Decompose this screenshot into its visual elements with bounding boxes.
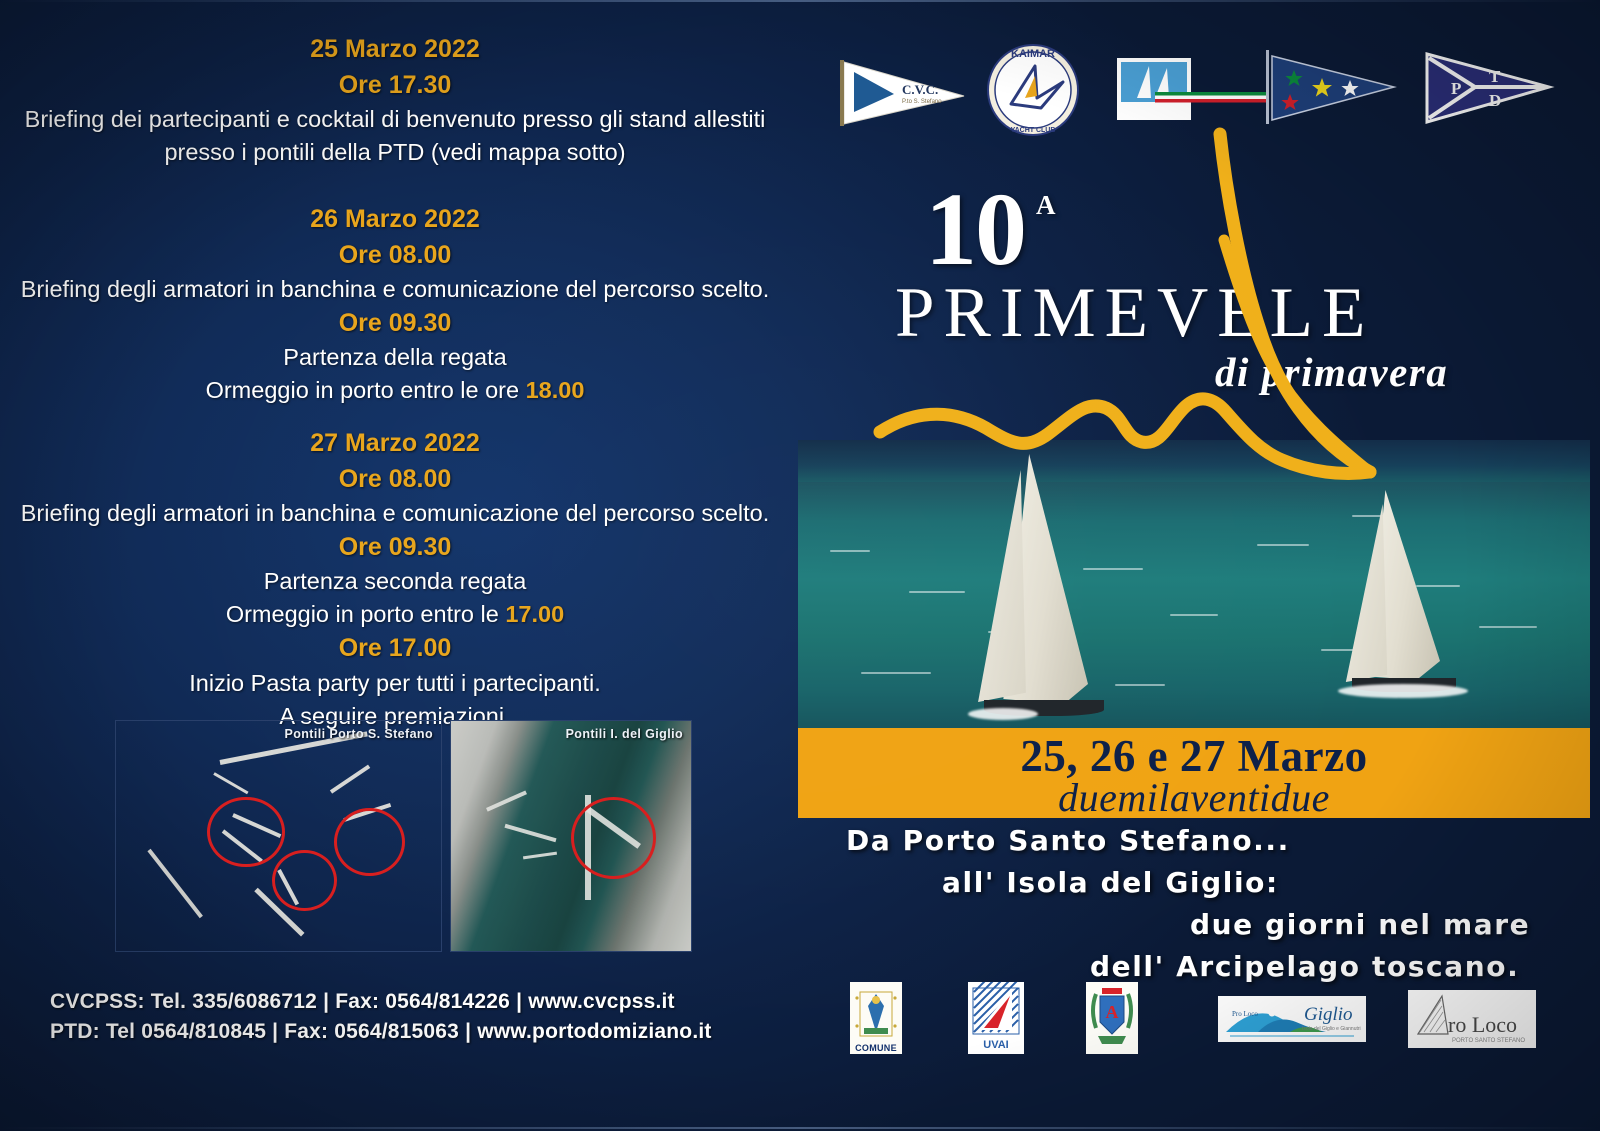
- schedule-detail-prefix: Ormeggio in porto entro le ore: [206, 377, 526, 403]
- comune-giglio-crest-icon: A: [1086, 982, 1138, 1054]
- schedule-detail: Briefing dei partecipanti e cocktail di …: [20, 103, 770, 136]
- isola-del-giglio-aerial: Pontili I. del Giglio: [450, 720, 692, 952]
- svg-text:P.to S. Stefano: P.to S. Stefano: [902, 99, 942, 105]
- sailboat-right: [1338, 490, 1498, 710]
- sailing-photo: [798, 440, 1590, 730]
- tagline-line-2: all' Isola del Giglio:: [942, 866, 1279, 899]
- ptd-burgee-icon: P T D: [1415, 44, 1555, 130]
- svg-text:A: A: [1106, 1002, 1119, 1022]
- kaimar-yacht-club-logo: KAIMAR YACHT CLUB: [985, 42, 1081, 138]
- branding-column: C.V.C. P.to S. Stefano KAIMAR YACHT CLUB: [790, 0, 1600, 1131]
- schedule-date: 27 Marzo 2022: [20, 426, 770, 462]
- dock-marker-circle: [207, 797, 285, 867]
- dock-marker-circle: [571, 797, 656, 879]
- schedule-time: Ore 08.00: [20, 238, 770, 274]
- svg-text:PORTO SANTO STEFANO: PORTO SANTO STEFANO: [1452, 1038, 1525, 1044]
- date-banner: 25, 26 e 27 Marzo duemilaventidue: [798, 728, 1590, 818]
- edition-number: 10: [925, 178, 1025, 282]
- date-banner-year: duemilaventidue: [798, 774, 1590, 821]
- svg-text:Isola del Giglio e Giannutri: Isola del Giglio e Giannutri: [1302, 1026, 1361, 1032]
- kaimar-badge-icon: KAIMAR YACHT CLUB: [985, 42, 1081, 138]
- schedule-block-27: 27 Marzo 2022 Ore 08.00 Briefing degli a…: [20, 426, 770, 732]
- uvai-logo: UVAI: [968, 982, 1024, 1054]
- schedule-time: Ore 17.00: [20, 631, 770, 667]
- schedule-detail-time: 17.00: [505, 601, 564, 627]
- schedule-time: Ore 17.30: [20, 68, 770, 104]
- proloco-giglio-logo: Pro Loco Giglio Isola del Giglio e Giann…: [1218, 996, 1366, 1042]
- schedule-detail-time: 18.00: [526, 377, 585, 403]
- svg-text:UVAI: UVAI: [983, 1039, 1008, 1051]
- schedule-detail-highlight: Ormeggio in porto entro le ore 18.00: [20, 374, 770, 407]
- svg-text:YACHT CLUB: YACHT CLUB: [1011, 127, 1056, 134]
- proloco-logo: ro Loco PORTO SANTO STEFANO: [1408, 990, 1536, 1048]
- edition-suffix: A: [1036, 190, 1056, 221]
- schedule-date: 26 Marzo 2022: [20, 202, 770, 238]
- svg-text:FIV: FIV: [1141, 101, 1168, 120]
- svg-text:D: D: [1489, 91, 1501, 110]
- contact-cvcpss: CVCPSS: Tel. 335/6086712 | Fax: 0564/814…: [50, 990, 675, 1014]
- schedule-time: Ore 09.30: [20, 306, 770, 342]
- comune-crest-logo: COMUNE: [850, 982, 902, 1054]
- sailboat-left: [968, 454, 1148, 724]
- schedule-time: Ore 08.00: [20, 462, 770, 498]
- svg-text:C.V.C.: C.V.C.: [902, 82, 938, 97]
- ptd-burgee-logo: P T D: [1415, 44, 1555, 130]
- tagline-line-1: Da Porto Santo Stefano...: [846, 824, 1290, 857]
- schedule-detail-highlight: Ormeggio in porto entro le 17.00: [20, 598, 770, 631]
- map-caption: Pontili I. del Giglio: [566, 727, 683, 741]
- schedule-detail: Briefing degli armatori in banchina e co…: [20, 273, 770, 306]
- schedule-detail: presso i pontili della PTD (vedi mappa s…: [20, 136, 770, 169]
- svg-text:KAIMAR: KAIMAR: [1011, 48, 1055, 60]
- proloco-giglio-icon: Pro Loco Giglio Isola del Giglio e Giann…: [1218, 996, 1366, 1042]
- tagline-line-4: dell' Arcipelago toscano.: [1090, 950, 1519, 983]
- contact-ptd: PTD: Tel 0564/810845 | Fax: 0564/815063 …: [50, 1020, 712, 1044]
- svg-text:P: P: [1451, 79, 1461, 98]
- cvc-burgee-icon: C.V.C. P.to S. Stefano: [832, 50, 972, 130]
- regatta-poster: 25 Marzo 2022 Ore 17.30 Briefing dei par…: [0, 0, 1600, 1131]
- schedule-date: 25 Marzo 2022: [20, 32, 770, 68]
- cvc-burgee-logo: C.V.C. P.to S. Stefano: [832, 50, 972, 130]
- tagline-line-3: due giorni nel mare: [1190, 908, 1530, 941]
- poster-title: 10 A PRIMEVELE di primavera: [790, 150, 1600, 410]
- schedule-detail: Inizio Pasta party per tutti i partecipa…: [20, 667, 770, 700]
- proloco-icon: ro Loco PORTO SANTO STEFANO: [1408, 990, 1536, 1048]
- stars-burgee-logo: [1260, 44, 1400, 130]
- schedule-column: 25 Marzo 2022 Ore 17.30 Briefing dei par…: [0, 0, 790, 1131]
- horizon-band: [798, 440, 1590, 482]
- dock-marker-circle: [334, 808, 405, 876]
- svg-text:T: T: [1489, 67, 1501, 86]
- dock-marker-circle: [272, 850, 337, 911]
- schedule-detail-prefix: Ormeggio in porto entro le: [226, 601, 506, 627]
- logo-label: COMUNE: [850, 1043, 902, 1053]
- comune-giglio-crest-logo: A: [1086, 982, 1138, 1054]
- map-caption: Pontili Porto S. Stefano: [285, 727, 434, 741]
- svg-text:Pro Loco: Pro Loco: [1232, 1010, 1258, 1018]
- schedule-detail: Partenza seconda regata: [20, 565, 770, 598]
- schedule-block-25: 25 Marzo 2022 Ore 17.30 Briefing dei par…: [20, 32, 770, 169]
- schedule-detail: Briefing degli armatori in banchina e co…: [20, 497, 770, 530]
- porto-santo-stefano-aerial: Pontili Porto S. Stefano: [115, 720, 442, 952]
- schedule-block-26: 26 Marzo 2022 Ore 08.00 Briefing degli a…: [20, 202, 770, 407]
- event-subtitle: di primavera: [1215, 348, 1448, 396]
- schedule-time: Ore 09.30: [20, 530, 770, 566]
- event-name: PRIMEVELE: [895, 278, 1374, 349]
- schedule-detail: Partenza della regata: [20, 341, 770, 374]
- stars-burgee-icon: [1260, 44, 1400, 130]
- uvai-sail-icon: UVAI: [968, 982, 1024, 1054]
- svg-text:Giglio: Giglio: [1304, 1004, 1353, 1025]
- svg-text:ro Loco: ro Loco: [1448, 1012, 1517, 1037]
